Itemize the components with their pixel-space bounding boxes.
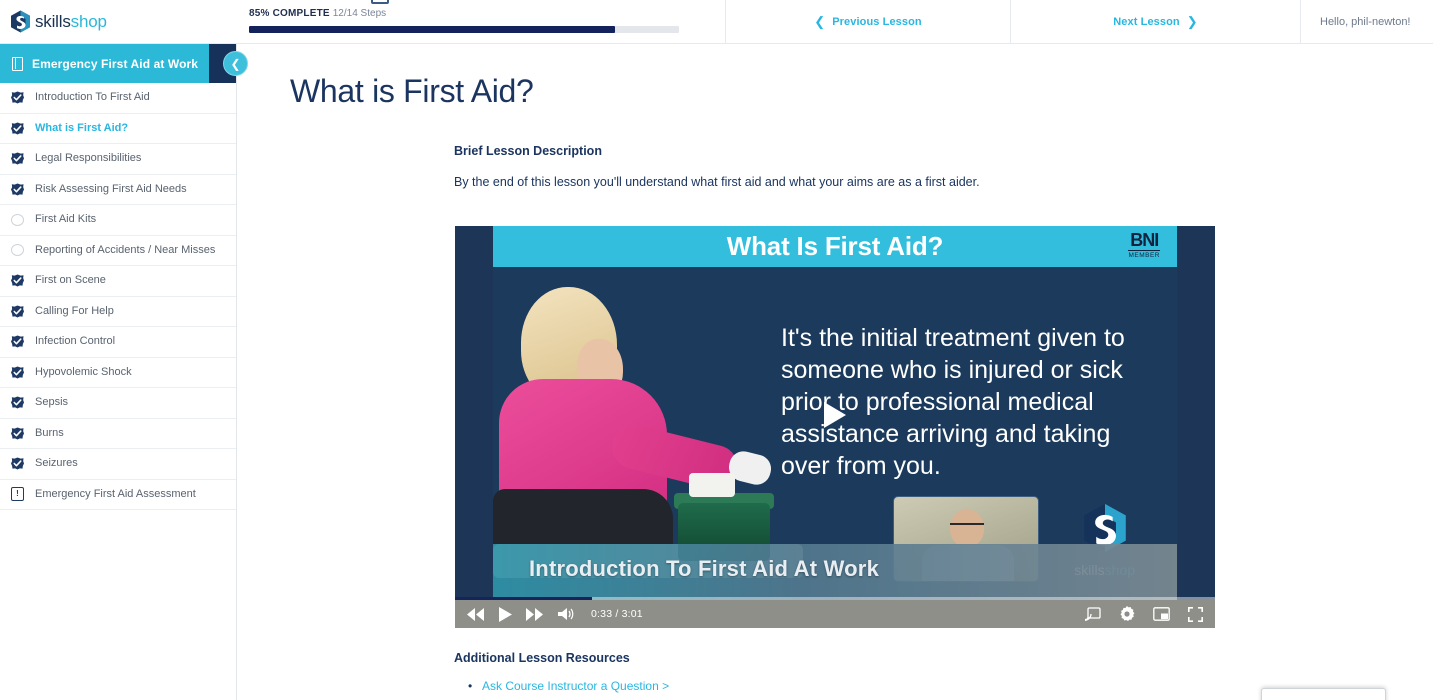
empty-circle-icon: [11, 244, 24, 256]
presenter-glasses: [950, 523, 984, 530]
sidebar-item-calling-for-help[interactable]: Calling For Help: [0, 297, 236, 328]
sidebar-item-label: Risk Assessing First Aid Needs: [35, 184, 187, 195]
sidebar-item-first-aid-kits[interactable]: First Aid Kits: [0, 205, 236, 236]
next-lesson-button[interactable]: Next Lesson ❯: [1010, 0, 1300, 43]
lesson-video-player[interactable]: What Is First Aid? BNI MEMBER: [455, 226, 1215, 628]
sidebar-item-label: What is First Aid?: [35, 123, 128, 134]
sidebar-item-label: Hypovolemic Shock: [35, 367, 132, 378]
brief-description-label: Brief Lesson Description: [454, 144, 1433, 158]
miniplayer-icon[interactable]: [1153, 607, 1170, 621]
progress-label: 85% COMPLETE12/14 Steps: [249, 8, 713, 19]
sidebar-item-label: Introduction To First Aid: [35, 92, 150, 103]
sidebar-item-label: Seizures: [35, 458, 78, 469]
video-slide-header: What Is First Aid? BNI MEMBER: [493, 226, 1177, 267]
course-sidebar: Emergency First Aid at Work ❮ Introducti…: [0, 44, 237, 700]
additional-resources-label: Additional Lesson Resources: [454, 651, 1433, 665]
sidebar-item-first-on-scene[interactable]: First on Scene: [0, 266, 236, 297]
course-lesson-page: skillsshop 85% COMPLETE12/14 Steps ❮ Pre…: [0, 0, 1433, 700]
brand-logo[interactable]: skillsshop: [0, 0, 237, 43]
sidebar-collapse-button[interactable]: ❮: [223, 51, 248, 76]
sidebar-item-what-is-first-aid[interactable]: What is First Aid?: [0, 114, 236, 145]
brand-wordmark: skillsshop: [35, 12, 107, 32]
check-circle-icon: [11, 427, 24, 440]
check-circle-icon: [11, 91, 24, 104]
certificate-icon: [371, 0, 389, 4]
sidebar-item-risk-assessing-first-aid-needs[interactable]: Risk Assessing First Aid Needs: [0, 175, 236, 206]
assessment-icon: !: [11, 487, 24, 501]
sidebar-item-legal-responsibilities[interactable]: Legal Responsibilities: [0, 144, 236, 175]
previous-lesson-label: Previous Lesson: [832, 16, 922, 28]
video-controls: 0:33 / 3:01: [455, 600, 1215, 628]
gauze-bandage: [689, 473, 735, 497]
sidebar-item-label: Calling For Help: [35, 306, 114, 317]
sidebar-item-infection-control[interactable]: Infection Control: [0, 327, 236, 358]
sidebar-item-label: Burns: [35, 428, 64, 439]
chevron-right-icon: ❯: [1187, 15, 1198, 28]
check-circle-icon: [11, 366, 24, 379]
sidebar-item-label: First on Scene: [35, 275, 106, 286]
bni-member-logo: BNI MEMBER: [1128, 231, 1160, 260]
video-slide-body: It's the initial treatment given to some…: [493, 267, 1177, 600]
sidebar-item-label: Sepsis: [35, 397, 68, 408]
sidebar-item-emergency-first-aid-assessment[interactable]: !Emergency First Aid Assessment: [0, 480, 236, 511]
next-lesson-label: Next Lesson: [1113, 16, 1180, 28]
check-circle-icon: [11, 274, 24, 287]
user-greeting[interactable]: Hello, phil-newton!: [1300, 0, 1433, 43]
video-lower-title: Introduction To First Aid At Work: [529, 556, 879, 582]
check-circle-icon: [11, 335, 24, 348]
check-circle-icon: [11, 305, 24, 318]
fast-forward-icon[interactable]: [526, 608, 544, 621]
play-icon[interactable]: [824, 402, 846, 428]
rewind-icon[interactable]: [467, 608, 485, 621]
chevron-left-icon: ❮: [230, 57, 240, 71]
skillsshop-logo-icon: [10, 10, 31, 33]
sidebar-item-label: Infection Control: [35, 336, 115, 347]
sidebar-item-sepsis[interactable]: Sepsis: [0, 388, 236, 419]
chat-widget[interactable]: [1261, 688, 1386, 700]
sidebar-course-header[interactable]: Emergency First Aid at Work ❮: [0, 44, 236, 83]
sidebar-item-label: First Aid Kits: [35, 214, 96, 225]
bni-logo-text: BNI: [1128, 231, 1160, 251]
sidebar-item-burns[interactable]: Burns: [0, 419, 236, 450]
progress-bar: [249, 26, 679, 33]
sidebar-item-reporting-of-accidents-near-misses[interactable]: Reporting of Accidents / Near Misses: [0, 236, 236, 267]
chevron-left-icon: ❮: [814, 15, 825, 28]
sidebar-course-title: Emergency First Aid at Work: [32, 57, 198, 71]
volume-icon[interactable]: [558, 607, 575, 621]
empty-circle-icon: [11, 214, 24, 226]
progress-steps-label: 12/14 Steps: [333, 8, 386, 19]
sidebar-item-label: Reporting of Accidents / Near Misses: [35, 245, 215, 256]
sidebar-item-seizures[interactable]: Seizures: [0, 449, 236, 480]
check-circle-icon: [11, 122, 24, 135]
sidebar-item-label: Legal Responsibilities: [35, 153, 141, 164]
check-circle-icon: [11, 152, 24, 165]
page-title: What is First Aid?: [290, 73, 1433, 110]
video-controls-right: [1085, 606, 1203, 622]
course-progress: 85% COMPLETE12/14 Steps: [237, 0, 725, 43]
brand-name-secondary: shop: [71, 12, 107, 31]
sidebar-lesson-list: Introduction To First AidWhat is First A…: [0, 83, 236, 510]
check-circle-icon: [11, 183, 24, 196]
brand-name-primary: skills: [35, 12, 71, 31]
sidebar-item-introduction-to-first-aid[interactable]: Introduction To First Aid: [0, 83, 236, 114]
book-icon: [12, 57, 23, 71]
top-bar: skillsshop 85% COMPLETE12/14 Steps ❮ Pre…: [0, 0, 1433, 44]
cast-icon[interactable]: [1085, 607, 1101, 621]
progress-bar-fill: [249, 26, 615, 33]
previous-lesson-button[interactable]: ❮ Previous Lesson: [725, 0, 1010, 43]
progress-percent-label: 85% COMPLETE: [249, 8, 330, 19]
sidebar-item-label: Emergency First Aid Assessment: [35, 489, 196, 500]
user-greeting-label: Hello, phil-newton!: [1320, 16, 1411, 28]
video-time-display: 0:33 / 3:01: [591, 608, 643, 620]
check-circle-icon: [11, 457, 24, 470]
bni-member-text: MEMBER: [1128, 253, 1160, 260]
check-circle-icon: [11, 396, 24, 409]
gear-icon[interactable]: [1119, 606, 1135, 622]
lesson-main-content: What is First Aid? Brief Lesson Descript…: [237, 44, 1433, 700]
sidebar-item-hypovolemic-shock[interactable]: Hypovolemic Shock: [0, 358, 236, 389]
brief-description-text: By the end of this lesson you'll underst…: [454, 175, 1433, 189]
play-icon[interactable]: [499, 607, 512, 622]
video-slide-title: What Is First Aid?: [727, 231, 943, 262]
fullscreen-icon[interactable]: [1188, 607, 1203, 622]
